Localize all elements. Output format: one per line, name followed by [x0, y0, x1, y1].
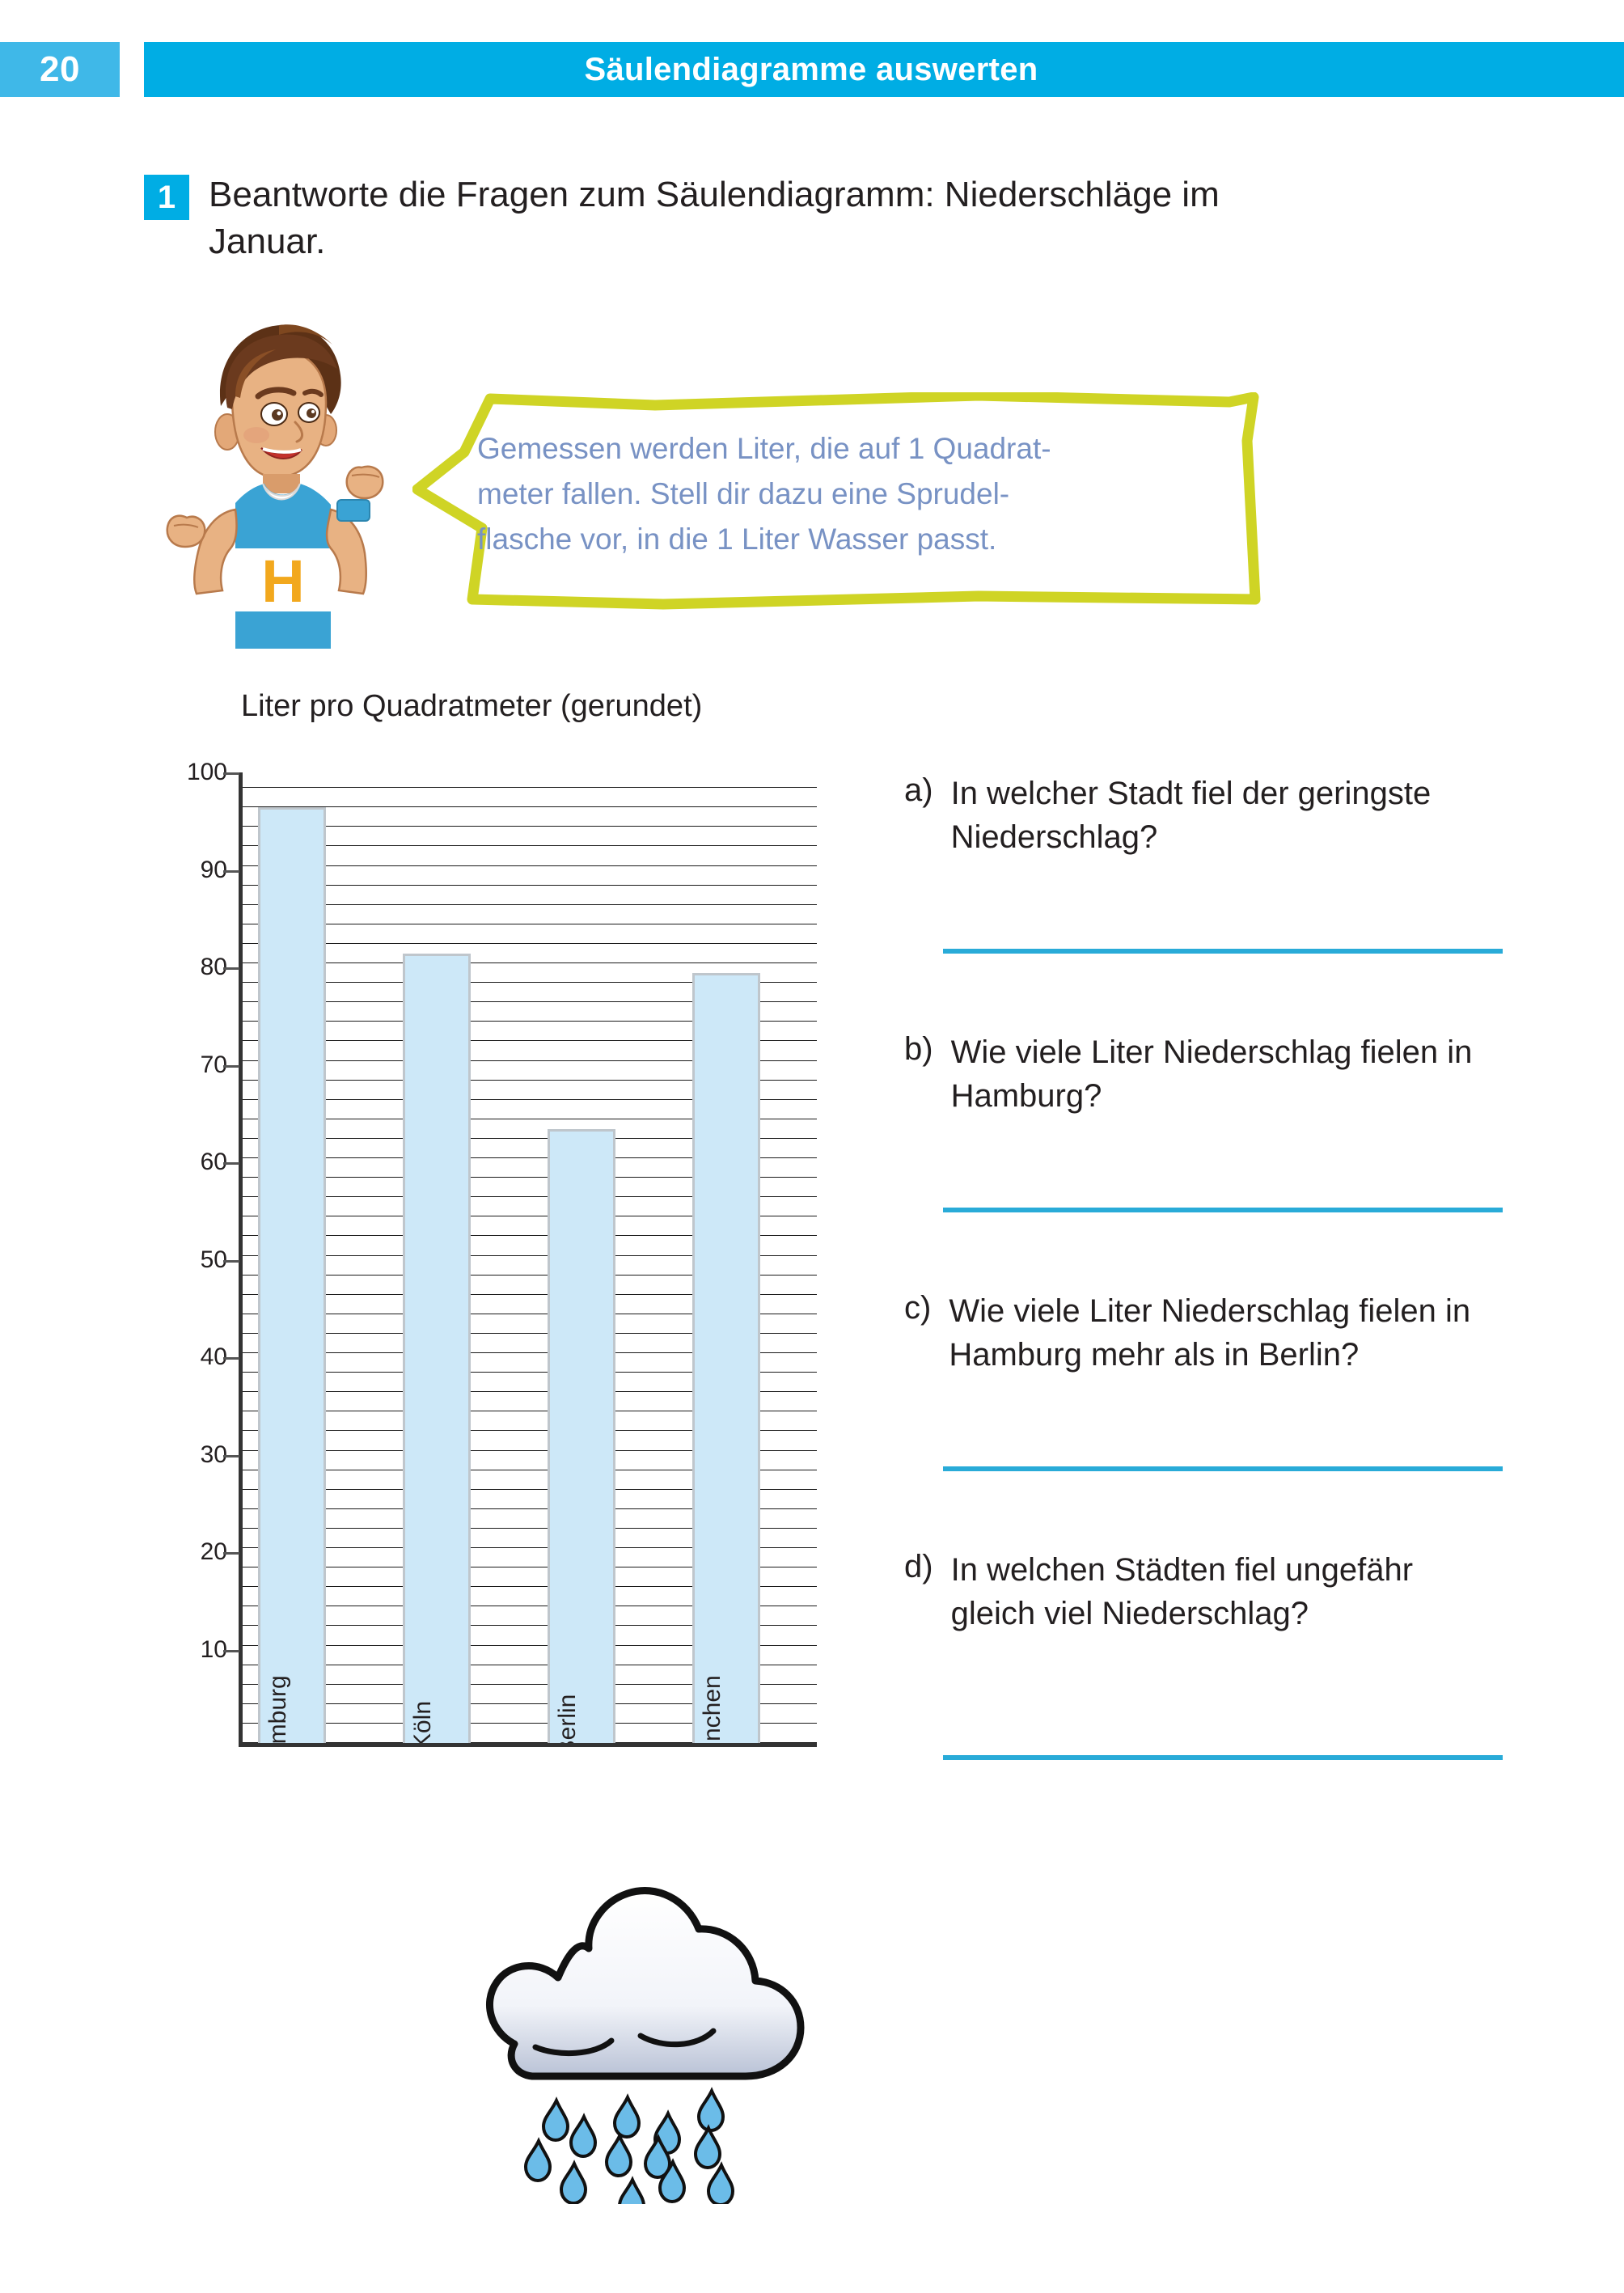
rain-droplet	[607, 2136, 631, 2176]
svg-text:H: H	[261, 548, 304, 615]
question-text: Wie viele Liter Niederschlag fielen in H…	[951, 1031, 1503, 1118]
rain-droplet	[696, 2128, 720, 2168]
bubble-line-2: meter fallen. Stell dir dazu eine Sprude…	[477, 472, 1229, 517]
question-row: d)In welchen Städten fiel ungefähr gleic…	[904, 1549, 1503, 1635]
chart-bar: München	[692, 973, 760, 1743]
question-item: a)In welcher Stadt fiel der geringste Ni…	[904, 772, 1503, 859]
boy-mascot-illustration: H	[158, 309, 400, 649]
chart-gridline	[243, 806, 817, 807]
bar-category-label: Hamburg	[264, 1675, 292, 1747]
page-title: Säulendiagramme auswerten	[584, 52, 1038, 88]
question-letter: a)	[904, 772, 933, 859]
header-bar: Säulendiagramme auswerten	[144, 42, 1624, 97]
bar-category-label: Köln	[409, 1701, 437, 1747]
y-axis-tick-mark	[223, 1357, 239, 1360]
question-row: c)Wie viele Liter Niederschlag fielen in…	[904, 1290, 1503, 1377]
bubble-line-1: Gemessen werden Liter, die auf 1 Quadrat…	[477, 426, 1229, 472]
answer-line[interactable]	[943, 1755, 1503, 1760]
y-axis-tick-mark	[223, 967, 239, 970]
question-letter: d)	[904, 1549, 933, 1635]
chart-gridline	[243, 904, 817, 905]
rain-droplet	[620, 2180, 644, 2204]
answer-line[interactable]	[943, 1466, 1503, 1471]
rain-droplet	[708, 2165, 733, 2204]
y-axis-tick-mark	[223, 772, 239, 775]
rain-droplet	[571, 2117, 595, 2156]
answer-line[interactable]	[943, 1208, 1503, 1212]
rain-droplet	[526, 2141, 550, 2181]
y-axis-tick-mark	[223, 1162, 239, 1165]
question-item: b)Wie viele Liter Niederschlag fielen in…	[904, 1031, 1503, 1118]
page-header: 20 Säulendiagramme auswerten	[0, 42, 1624, 97]
worksheet-page: 20 Säulendiagramme auswerten 1 Beantwort…	[0, 0, 1624, 2293]
rain-droplet	[699, 2091, 723, 2130]
question-letter: b)	[904, 1031, 933, 1118]
chart-bar: Hamburg	[258, 807, 326, 1743]
y-axis-tick-mark	[223, 1455, 239, 1457]
task-number-badge: 1	[144, 175, 189, 220]
bar-chart: HamburgKölnBerlinMünchen 102030405060708…	[178, 772, 825, 1755]
question-text: In welchen Städten fiel ungefähr gleich …	[951, 1549, 1503, 1635]
question-text: Wie viele Liter Niederschlag fielen in H…	[949, 1290, 1503, 1377]
chart-plot-area: HamburgKölnBerlinMünchen	[239, 772, 817, 1747]
y-axis-tick-mark	[223, 870, 239, 873]
chart-gridline	[243, 787, 817, 788]
rain-droplet	[561, 2164, 586, 2203]
chart-bar: Köln	[403, 954, 471, 1743]
rain-droplet	[615, 2097, 639, 2137]
question-letter: c)	[904, 1290, 931, 1377]
y-axis-tick-mark	[223, 1260, 239, 1263]
chart-gridline	[243, 943, 817, 944]
chart-gridline	[243, 885, 817, 886]
chart-gridline	[243, 826, 817, 827]
chart-gridline	[243, 845, 817, 846]
y-axis-tick-mark	[223, 1552, 239, 1555]
page-number: 20	[0, 42, 120, 97]
chart-gridline	[243, 865, 817, 866]
answer-line[interactable]	[943, 949, 1503, 954]
bubble-line-3: flasche vor, in die 1 Liter Wasser passt…	[477, 517, 1229, 562]
questions-list: a)In welcher Stadt fiel der geringste Ni…	[904, 772, 1503, 1808]
task-instruction: Beantworte die Fragen zum Säulendiagramm…	[209, 171, 1260, 265]
y-axis-tick-mark	[223, 1650, 239, 1652]
bar-category-label: Berlin	[554, 1694, 582, 1747]
rain-droplet	[543, 2101, 568, 2140]
chart-bar: Berlin	[548, 1129, 615, 1743]
chart-gridline	[243, 924, 817, 924]
chart-gridline	[243, 962, 817, 963]
y-axis-tick-mark	[223, 1065, 239, 1068]
speech-bubble-text: Gemessen werden Liter, die auf 1 Quadrat…	[477, 426, 1229, 563]
question-row: b)Wie viele Liter Niederschlag fielen in…	[904, 1031, 1503, 1118]
bar-category-label: München	[699, 1675, 726, 1747]
question-row: a)In welcher Stadt fiel der geringste Ni…	[904, 772, 1503, 859]
rain-cloud-illustration	[461, 1816, 833, 2204]
speech-bubble: Gemessen werden Liter, die auf 1 Quadrat…	[412, 392, 1262, 611]
question-item: d)In welchen Städten fiel ungefähr gleic…	[904, 1549, 1503, 1635]
question-text: In welcher Stadt fiel der geringste Nied…	[951, 772, 1503, 859]
chart-title: Liter pro Quadratmeter (gerundet)	[241, 689, 702, 724]
question-item: c)Wie viele Liter Niederschlag fielen in…	[904, 1290, 1503, 1377]
